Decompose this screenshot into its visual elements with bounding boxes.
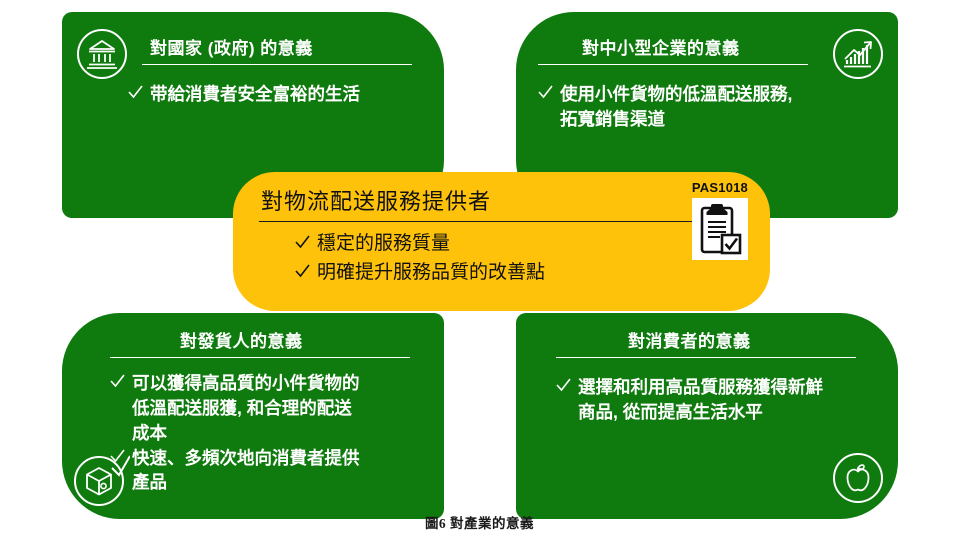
title-divider (259, 221, 699, 222)
list-item: 明確提升服務品質的改善點 (295, 259, 545, 288)
list-item: 可以獲得高品質的小件貨物的 低溫配送服獲, 和合理的配送 成本 (110, 371, 440, 446)
list-item: 使用小件貨物的低溫配送服務, 拓寬銷售渠道 (538, 82, 888, 132)
title-divider (538, 64, 808, 65)
panel-shipper: 對發貨人的意義 可以獲得高品質的小件貨物的 低溫配送服獲, 和合理的配送 成本 … (62, 313, 444, 519)
bank-building-icon (76, 28, 128, 85)
title-divider (556, 357, 856, 358)
bullet-text: 可以獲得高品質的小件貨物的 (132, 371, 360, 396)
panel-title-logistics-provider: 對物流配送服務提供者 (261, 184, 491, 216)
check-icon (538, 84, 553, 100)
apple-icon (832, 452, 884, 509)
check-icon (110, 448, 125, 464)
panel-title-shipper: 對發貨人的意義 (180, 327, 303, 352)
bullet-text: 快速、多頻次地向消費者提供 (132, 446, 360, 471)
bullet-text: 商品, 從而提高生活水平 (578, 400, 823, 425)
bullet-text: 低溫配送服獲, 和合理的配送 (132, 396, 360, 421)
panel-logistics-provider: 對物流配送服務提供者 PAS1018 穩定的服務質量 (233, 172, 770, 311)
check-icon (128, 84, 143, 100)
figure-caption: 圖6 對產業的意義 (0, 512, 959, 532)
bullet-text: 使用小件貨物的低溫配送服務, (560, 82, 792, 107)
check-icon (295, 234, 310, 250)
clipboard-check-icon (692, 198, 748, 260)
title-divider (110, 357, 410, 358)
bullet-text: 穩定的服務質量 (317, 230, 450, 259)
list-item: 穩定的服務質量 (295, 230, 545, 259)
check-icon (110, 373, 125, 389)
list-item: 快速、多頻次地向消費者提供 產品 (110, 446, 440, 496)
title-divider (142, 64, 412, 65)
bullet-list-consumer: 選擇和利用高品質服務獲得新鮮 商品, 從而提高生活水平 (556, 375, 896, 425)
bullet-text: 明確提升服務品質的改善點 (317, 259, 545, 288)
bullet-text: 選擇和利用高品質服務獲得新鮮 (578, 375, 823, 400)
growth-chart-icon (832, 28, 884, 85)
panel-title-consumer: 對消費者的意義 (628, 327, 751, 352)
bullet-text: 拓寬銷售渠道 (560, 107, 792, 132)
pas-badge-label: PAS1018 (692, 180, 748, 195)
list-item: 带給消費者安全富裕的生活 (128, 82, 428, 107)
bullet-list-sme: 使用小件貨物的低溫配送服務, 拓寬銷售渠道 (538, 82, 888, 132)
bullet-text: 成本 (132, 421, 360, 446)
bullet-list-shipper: 可以獲得高品質的小件貨物的 低溫配送服獲, 和合理的配送 成本 快速、多頻次地向… (110, 371, 440, 495)
panel-consumer: 對消費者的意義 選擇和利用高品質服務獲得新鮮 商品, 從而提高生活水平 (516, 313, 898, 519)
bullet-text: 產品 (132, 470, 360, 495)
diagram-canvas: 對國家 (政府) 的意義 带給消費者安全富裕的生活 (0, 0, 959, 536)
list-item: 選擇和利用高品質服務獲得新鮮 商品, 從而提高生活水平 (556, 375, 896, 425)
bullet-list-government: 带給消費者安全富裕的生活 (128, 82, 428, 107)
panel-title-sme: 對中小型企業的意義 (582, 34, 740, 59)
bullet-text: 带給消費者安全富裕的生活 (150, 82, 360, 107)
bullet-list-logistics-provider: 穩定的服務質量 明確提升服務品質的改善點 (295, 230, 545, 288)
check-icon (295, 263, 310, 279)
panel-title-government: 對國家 (政府) 的意義 (150, 34, 313, 59)
check-icon (556, 377, 571, 393)
